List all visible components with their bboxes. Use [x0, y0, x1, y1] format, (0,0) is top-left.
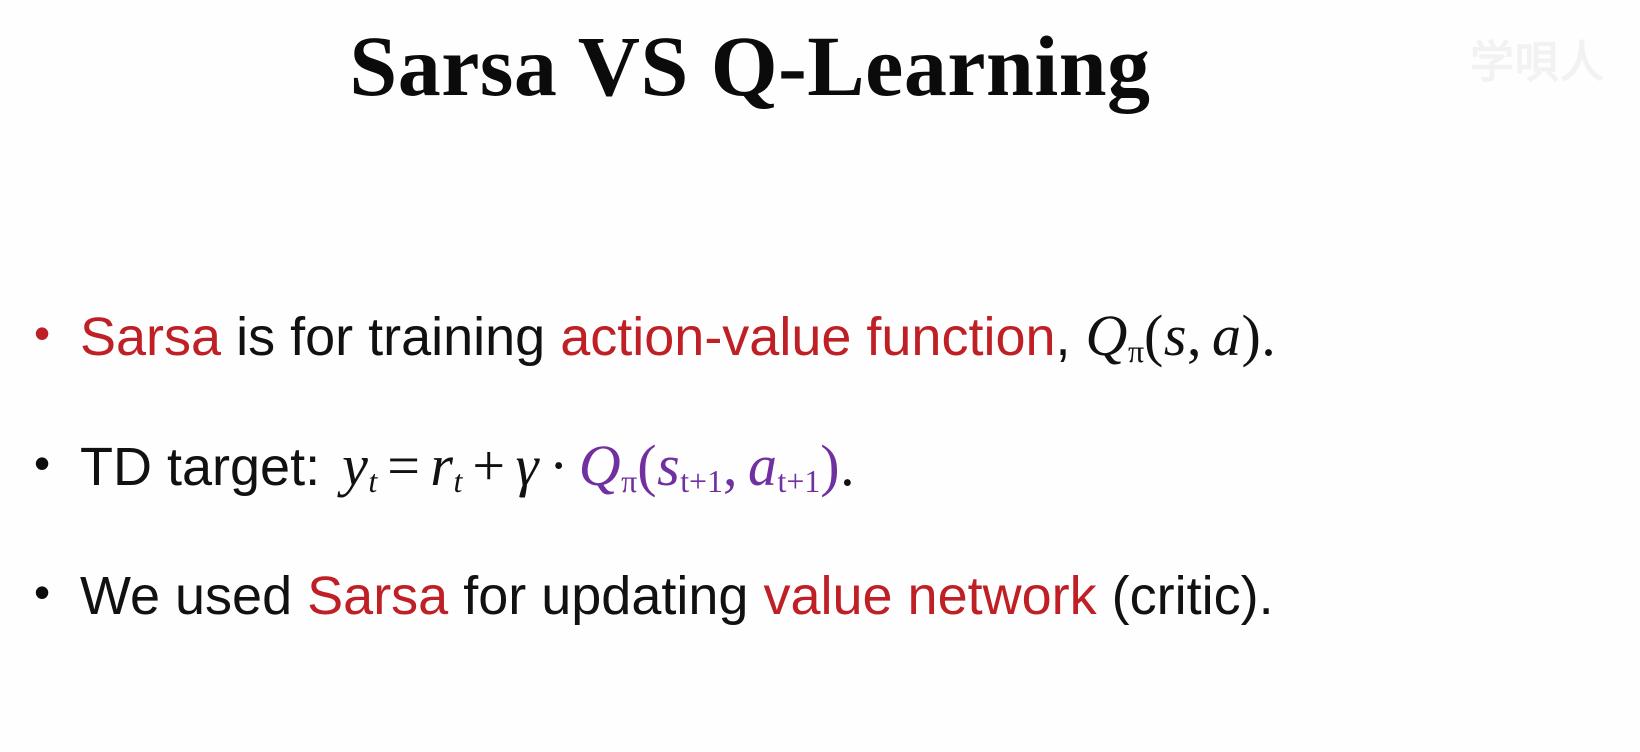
math-subscript-t-plus-1: t+1 — [680, 464, 723, 499]
math-rparen: ) — [820, 433, 840, 498]
text-for-updating: for updating — [448, 566, 763, 626]
label-td-target: TD target: — [80, 437, 320, 497]
list-item: • Sarsa is for training action-value fun… — [34, 300, 1614, 388]
math-rparen: ) — [1241, 303, 1261, 368]
math-symbol-a: a — [748, 433, 778, 498]
formula-td-target: yt=rt+γ·Qπ(st+1,at+1). — [342, 433, 855, 498]
math-plus: + — [472, 433, 505, 498]
bullet-dot-icon: • — [34, 310, 80, 356]
term-value-network: value network — [763, 566, 1096, 626]
math-lparen: ( — [637, 433, 657, 498]
text-is-for-training: is for training — [221, 307, 560, 367]
math-comma: , — [723, 433, 738, 498]
math-subscript-t: t — [368, 464, 377, 499]
page-title: Sarsa VS Q-Learning — [0, 14, 1640, 118]
text-we-used: We used — [80, 566, 307, 626]
math-subscript-pi: π — [1128, 334, 1144, 369]
math-subscript-t-plus-1: t+1 — [777, 464, 820, 499]
math-lparen: ( — [1144, 303, 1164, 368]
term-action-value-function: action-value function — [560, 307, 1055, 367]
term-sarsa: Sarsa — [307, 566, 448, 626]
math-subscript-pi: π — [621, 464, 637, 499]
list-item-text: We used Sarsa for updating value network… — [80, 560, 1614, 632]
math-symbol-s: s — [657, 433, 680, 498]
math-symbol-y: y — [342, 433, 368, 498]
text-critic: (critic). — [1097, 566, 1274, 626]
math-period: . — [840, 433, 855, 498]
bullet-dot-icon: • — [34, 569, 80, 615]
math-cdot: · — [549, 433, 569, 498]
term-sarsa: Sarsa — [80, 307, 221, 367]
math-symbol-r: r — [430, 433, 453, 498]
math-symbol-gamma: γ — [516, 433, 539, 498]
slide-canvas: 学唄人 Sarsa VS Q-Learning • Sarsa is for t… — [0, 0, 1640, 752]
math-equals: = — [387, 433, 420, 498]
math-subscript-t: t — [454, 464, 463, 499]
math-symbol-s: s — [1164, 303, 1187, 368]
formula-q-pi-s-a: Qπ(s,a). — [1086, 303, 1277, 368]
math-symbol-Q: Q — [1086, 303, 1128, 368]
list-item-text: TD target:yt=rt+γ·Qπ(st+1,at+1). — [80, 430, 1614, 518]
list-item: • We used Sarsa for updating value netwo… — [34, 560, 1614, 632]
list-item-text: Sarsa is for training action-value funct… — [80, 300, 1614, 388]
math-period: . — [1261, 303, 1276, 368]
text-comma: , — [1056, 307, 1086, 367]
math-symbol-Q: Q — [579, 433, 621, 498]
math-comma: , — [1187, 303, 1202, 368]
bullet-list: • Sarsa is for training action-value fun… — [34, 300, 1614, 632]
list-item: • TD target:yt=rt+γ·Qπ(st+1,at+1). — [34, 430, 1614, 518]
math-symbol-a: a — [1212, 303, 1242, 368]
bullet-dot-icon: • — [34, 440, 80, 486]
